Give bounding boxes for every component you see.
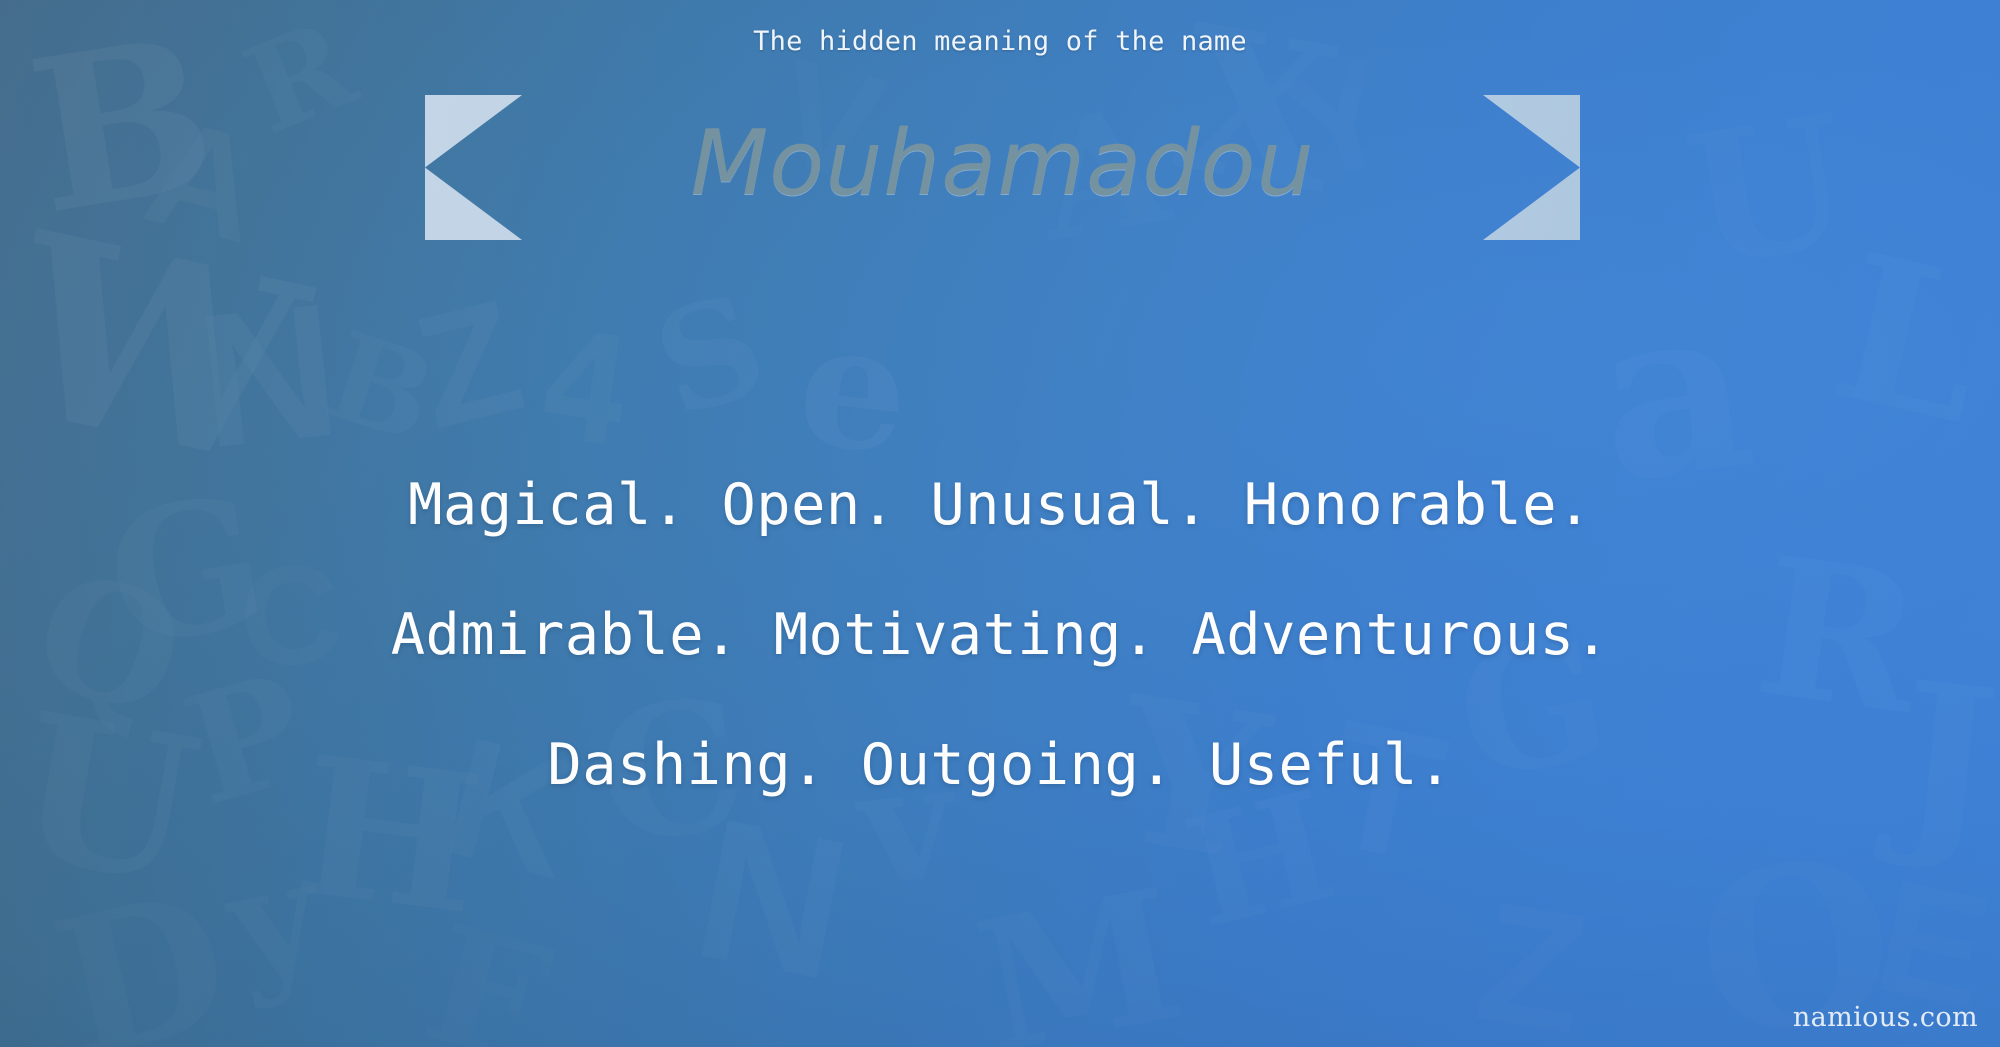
traits-block: Magical. Open. Unusual. Honorable. Admir… (0, 440, 2000, 830)
trait-line-3: Dashing. Outgoing. Useful. (0, 700, 2000, 830)
site-watermark: namious.com (1793, 1002, 1978, 1033)
name-meaning-card: BARWNBZ4SeGQCUPHyKCNvYHTGRaLUXYJOEMZDFAV… (0, 0, 2000, 1047)
name-banner: Mouhamadou (425, 95, 1580, 240)
name-text: Mouhamadou (425, 95, 1580, 240)
trait-line-2: Admirable. Motivating. Adventurous. (0, 570, 2000, 700)
trait-line-1: Magical. Open. Unusual. Honorable. (0, 440, 2000, 570)
page-title: The hidden meaning of the name (0, 26, 2000, 57)
